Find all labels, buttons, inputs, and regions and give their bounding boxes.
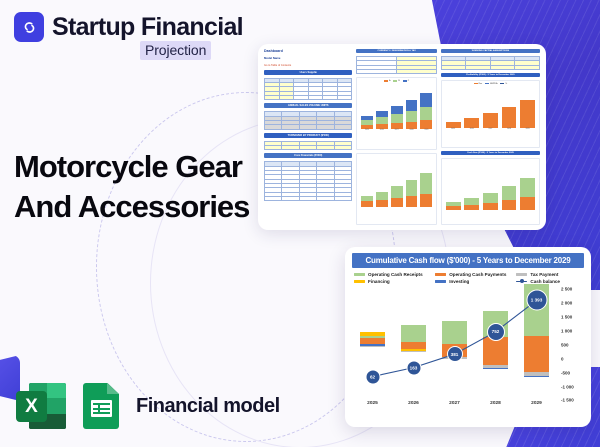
dashboard-profitability-chart: Rev EBITDA % 2025 2026 2027 [441, 80, 540, 147]
dashboard-table-financials [264, 161, 352, 201]
legend-line-balance [516, 281, 527, 283]
dashboard-panel-heading-3: TURNOVER BY PRODUCT ($'000) [264, 133, 352, 138]
profitability-xaxis: 2025 2026 2027 2028 2029 [444, 128, 537, 130]
legend-label-receipts: Operating Cash Receipts [368, 272, 423, 277]
poster-canvas: Startup Financial Projection Motorcycle … [0, 0, 600, 447]
excel-icon: X [16, 381, 66, 431]
ytick: -1 500 [561, 398, 574, 403]
legend-item-financing: Financing [354, 279, 431, 284]
mini-year: 2026 [380, 129, 384, 131]
legend-item-tax: Tax Payment [516, 272, 582, 277]
ytick: 0 [561, 356, 564, 361]
xtick-2026: 2026 [396, 401, 431, 406]
balance-bubble-2025: 62 [365, 369, 380, 384]
mini-year: 2028 [507, 128, 511, 130]
google-sheets-icon [80, 381, 122, 431]
dashboard-mockup-card: Dashboard Model Name Go to Table of Cont… [258, 44, 546, 230]
mini-year: 2027 [395, 129, 399, 131]
mini-chart-xaxis: 2025 2026 2027 2028 2029 [359, 129, 433, 131]
dashboard-cashflow-chart [441, 158, 540, 225]
file-format-label: Financial model [136, 395, 280, 418]
ytick: 1 000 [561, 328, 572, 333]
legend-item-payments: Operating Cash Payments [435, 272, 512, 277]
balance-bubble-2026: 163 [406, 360, 421, 375]
legend-swatch-payments [435, 273, 446, 276]
mini-year: 2029 [424, 129, 428, 131]
brand-name: Startup Financial [52, 13, 243, 42]
profitability-bars [444, 85, 537, 128]
ytick: -500 [561, 370, 570, 375]
mini-chart-bars [359, 83, 433, 129]
excel-letter: X [16, 391, 47, 422]
ytick: 2 500 [561, 287, 572, 292]
chart-x-axis: 2025 2026 2027 2028 2029 [352, 401, 557, 406]
legend-swatch-receipts [354, 273, 365, 276]
dashboard-cashflow-heading: Cash flow ($'000) - 5 Years to December … [441, 151, 540, 155]
balance-bubble-2027: 381 [447, 346, 463, 362]
xtick-2027: 2027 [437, 401, 472, 406]
dashboard-table-currency [356, 56, 436, 74]
brand-header: Startup Financial [14, 12, 243, 42]
legend-label-financing: Financing [368, 279, 390, 284]
mini-year: 2026 [470, 128, 474, 130]
cashflow-bars [444, 161, 537, 210]
legend-item-receipts: Operating Cash Receipts [354, 272, 431, 277]
dashboard-table-products [264, 78, 352, 101]
legend-swatch-financing [354, 280, 365, 283]
swirl-e-icon [14, 12, 44, 42]
legend-item-investing: Investing [435, 279, 512, 284]
legend-swatch-tax [516, 273, 527, 276]
legend-swatch-investing [435, 280, 446, 283]
dashboard-column-right: WORKING CAPITAL ASSUMPTIONS Profitabilit… [441, 49, 540, 225]
dashboard-toc-link: Go to Table of Contents [264, 64, 352, 67]
ytick: 500 [561, 342, 569, 347]
page-title: Motorcycle Gear And Accessories [14, 147, 264, 228]
legend-label-payments: Operating Cash Payments [449, 272, 506, 277]
mini-year: 2027 [488, 128, 492, 130]
dashboard-currency-heading: CURRENCY / DENOMINATION & TAX [356, 49, 436, 53]
dashboard-wc-heading: WORKING CAPITAL ASSUMPTIONS [441, 49, 540, 53]
mini-year: 2025 [365, 129, 369, 131]
xtick-2025: 2025 [355, 401, 390, 406]
chart-title: Cumulative Cash flow ($'000) - 5 Years t… [352, 253, 584, 268]
dashboard-title: Dashboard [264, 49, 352, 54]
ytick: 1 500 [561, 314, 572, 319]
dashboard-panel-heading-2: ANNUAL SALES VOLUME UNITS [264, 103, 352, 108]
mini-chart-bars-2 [359, 156, 433, 208]
ytick: 2 000 [561, 300, 572, 305]
dashboard-table-volume [264, 111, 352, 129]
dashboard-panel-heading: Users Supplie [264, 70, 352, 75]
chart-legend: Operating Cash Receipts Operating Cash P… [354, 272, 582, 284]
dashboard-table-turnover [264, 141, 352, 151]
dashboard-table-wc [441, 56, 540, 70]
dashboard-mini-chart-1: A B C 2025 2026 2027 [356, 77, 436, 149]
balance-bubble-2029: 1 393 [526, 290, 547, 311]
file-format-row: X Financial model [16, 381, 280, 431]
chart-y-axis: 2 500 2 000 1 500 1 000 500 0 -500 -1 00… [557, 287, 584, 399]
brand-subtitle: Projection [140, 41, 211, 60]
dashboard-mini-chart-2 [356, 153, 436, 225]
cumulative-cashflow-card: Cumulative Cash flow ($'000) - 5 Years t… [345, 247, 591, 427]
xtick-2029: 2029 [519, 401, 554, 406]
mini-year: 2025 [451, 128, 455, 130]
chart-x-axis-row: 2025 2026 2027 2028 2029 [352, 399, 584, 406]
mini-year: 2028 [410, 129, 414, 131]
chart-bars-area: 62 163 381 752 1 393 [352, 287, 557, 399]
dashboard-profitability-heading: Profitability ($'000) - 5 Years to Decem… [441, 73, 540, 77]
dashboard-model-name: Model Name [264, 57, 352, 61]
dashboard-column-left: Dashboard Model Name Go to Table of Cont… [264, 49, 352, 225]
chart-plot-area: 62 163 381 752 1 393 2 500 2 000 1 500 1… [352, 287, 584, 399]
xtick-2028: 2028 [478, 401, 513, 406]
dashboard-panel-heading-4: Core Financials ($'000) [264, 153, 352, 158]
ytick: -1 000 [561, 384, 574, 389]
dashboard-column-middle: CURRENCY / DENOMINATION & TAX A B C [356, 49, 436, 225]
legend-label-investing: Investing [449, 279, 469, 284]
legend-label-tax: Tax Payment [530, 272, 558, 277]
balance-bubble-2028: 752 [487, 323, 505, 341]
mini-year: 2029 [526, 128, 530, 130]
